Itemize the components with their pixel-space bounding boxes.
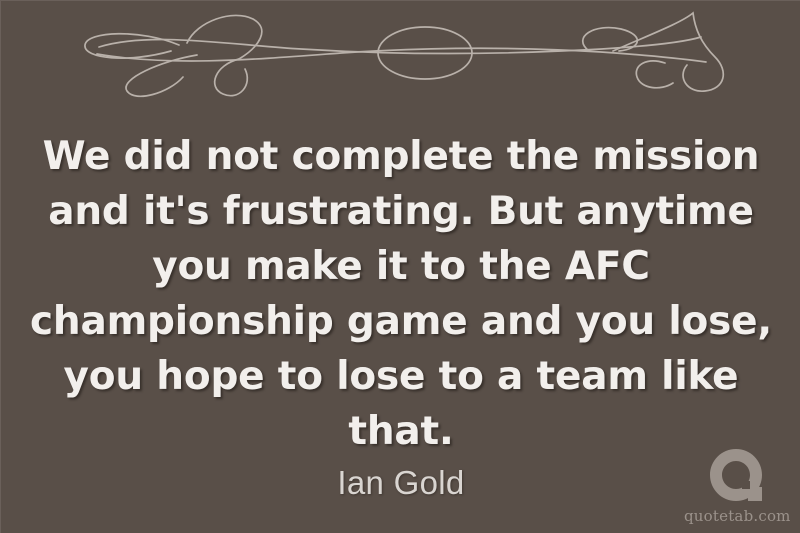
watermark-site-label: quotetab.com	[684, 507, 788, 525]
quote-card: We did not complete the mission and it's…	[0, 0, 800, 533]
quotetab-q-logo-icon	[708, 447, 764, 505]
flourish-divider-ornament	[1, 7, 800, 102]
quote-text: We did not complete the mission and it's…	[29, 129, 773, 459]
quote-author: Ian Gold	[1, 464, 800, 502]
site-watermark[interactable]: quotetab.com	[684, 447, 788, 525]
